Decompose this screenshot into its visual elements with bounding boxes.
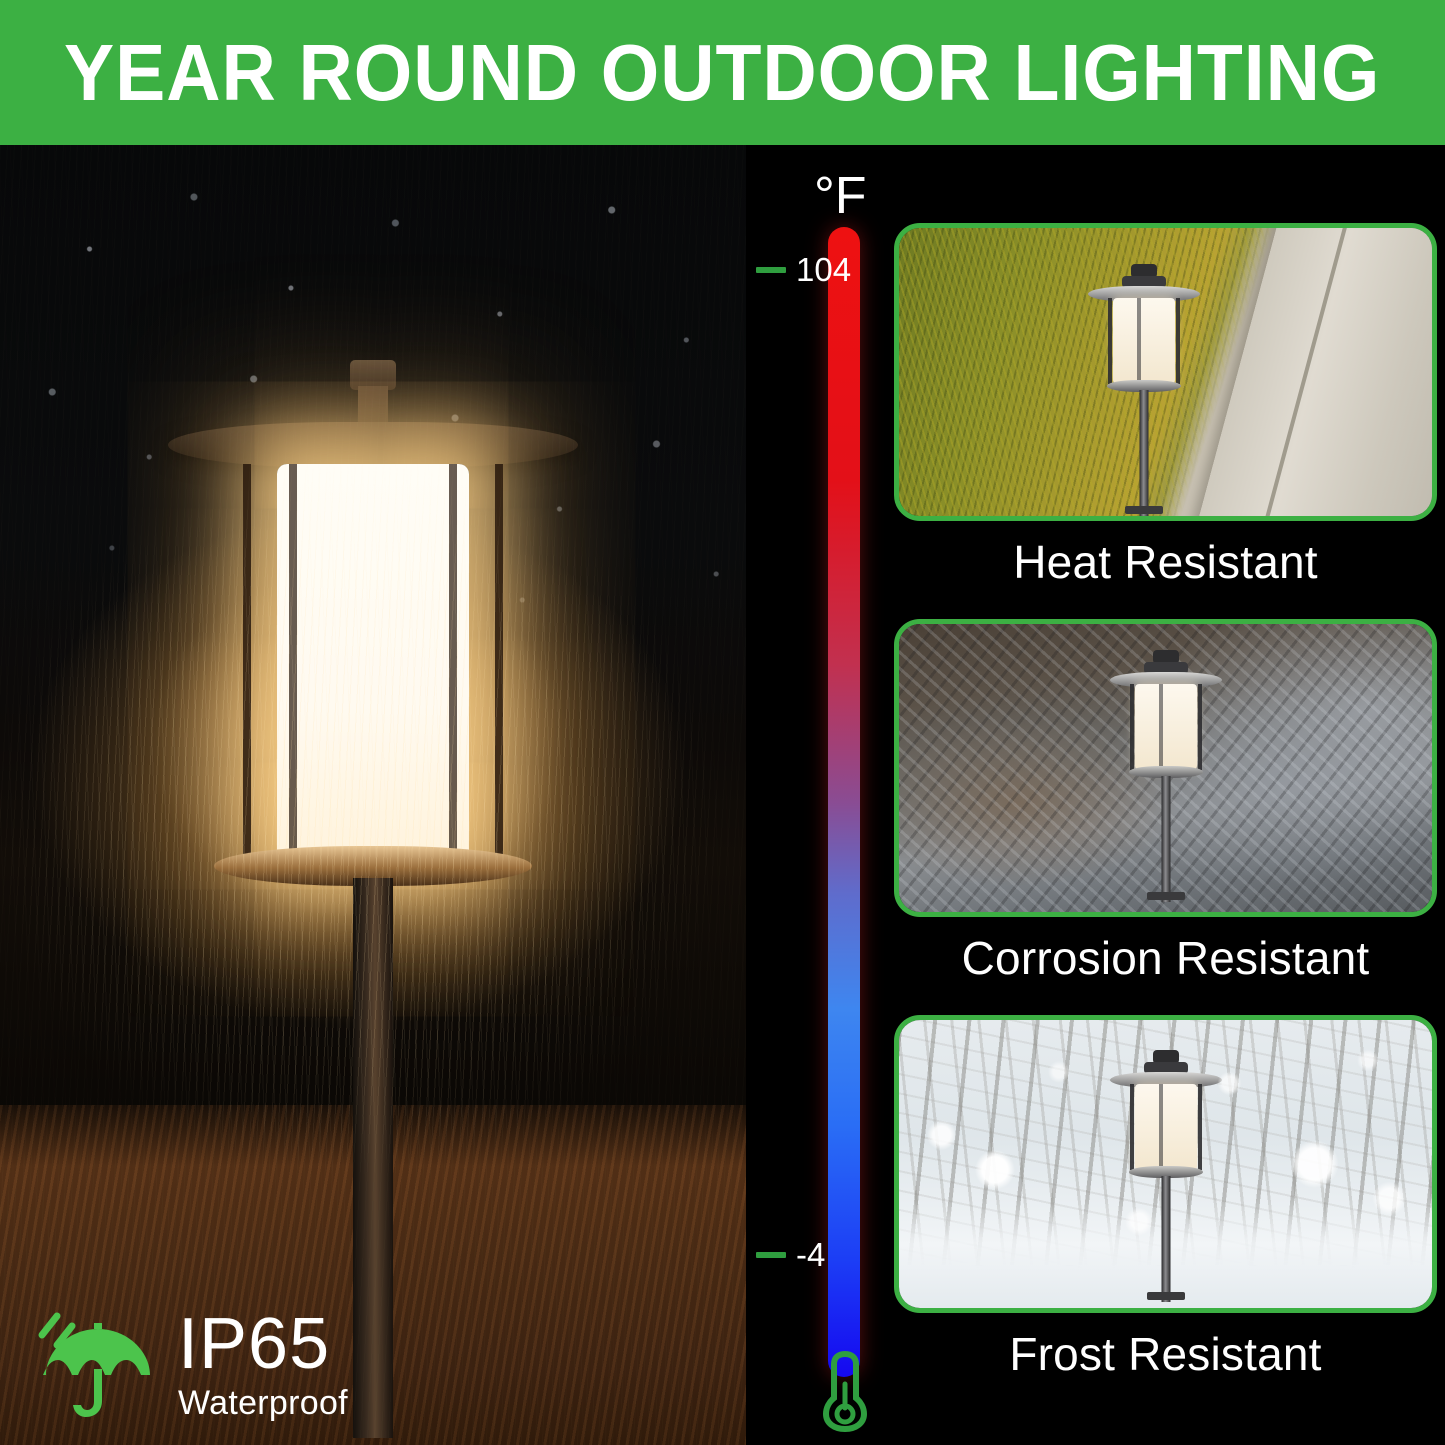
lamp-ribs: [1105, 298, 1183, 384]
feature-caption-frost: Frost Resistant: [886, 1327, 1445, 1381]
pathway-light-fixture: [1084, 264, 1204, 516]
feature-cards: Heat Resistant Corrosion Resistant: [886, 145, 1445, 1445]
hero-photo-rain-test: IP65 Waterproof: [0, 145, 746, 1445]
feature-photo-corrosion: [894, 619, 1437, 917]
temperature-high-value: 104: [796, 253, 851, 286]
lamp-ground-spike: [1147, 892, 1185, 900]
lamp-ribs: [1127, 684, 1205, 770]
feature-photo-frost: [894, 1015, 1437, 1313]
temperature-low-value: -4: [796, 1238, 825, 1271]
pathway-light-fixture: [1106, 650, 1226, 900]
header-banner: YEAR ROUND OUTDOOR LIGHTING: [0, 0, 1445, 145]
temperature-tick-low: -4: [756, 1238, 825, 1271]
tick-dash-icon: [756, 267, 786, 273]
feature-card-frost: Frost Resistant: [886, 1015, 1445, 1381]
lamp-stem: [1161, 776, 1170, 902]
temperature-unit-label: °F: [814, 170, 867, 222]
temperature-scale: °F 104 -4: [746, 145, 886, 1445]
ip-text-block: IP65 Waterproof: [178, 1308, 348, 1420]
temperature-tick-high: 104: [756, 253, 851, 286]
feature-card-heat: Heat Resistant: [886, 223, 1445, 589]
feature-caption-corrosion: Corrosion Resistant: [886, 931, 1445, 985]
ip65-waterproof-badge: IP65 Waterproof: [36, 1305, 348, 1423]
umbrella-rain-icon: [36, 1305, 156, 1423]
feature-photo-heat: [894, 223, 1437, 521]
sidewalk-seam: [1257, 223, 1358, 521]
rain-streaks: [0, 145, 746, 1445]
thermometer-icon: [818, 1350, 872, 1432]
tick-dash-icon: [756, 1252, 786, 1258]
temperature-gradient-bar: [828, 227, 860, 1377]
page-title: YEAR ROUND OUTDOOR LIGHTING: [64, 33, 1380, 113]
feature-card-corrosion: Corrosion Resistant: [886, 619, 1445, 985]
waterproof-label: Waterproof: [178, 1386, 348, 1420]
falling-snow-bokeh: [899, 1020, 1432, 1308]
lamp-stem: [1140, 390, 1149, 516]
product-infographic: YEAR ROUND OUTDOOR LIGHTING: [0, 0, 1445, 1445]
feature-caption-heat: Heat Resistant: [886, 535, 1445, 589]
lamp-ground-spike: [1125, 506, 1163, 514]
ip-rating-label: IP65: [178, 1308, 348, 1380]
